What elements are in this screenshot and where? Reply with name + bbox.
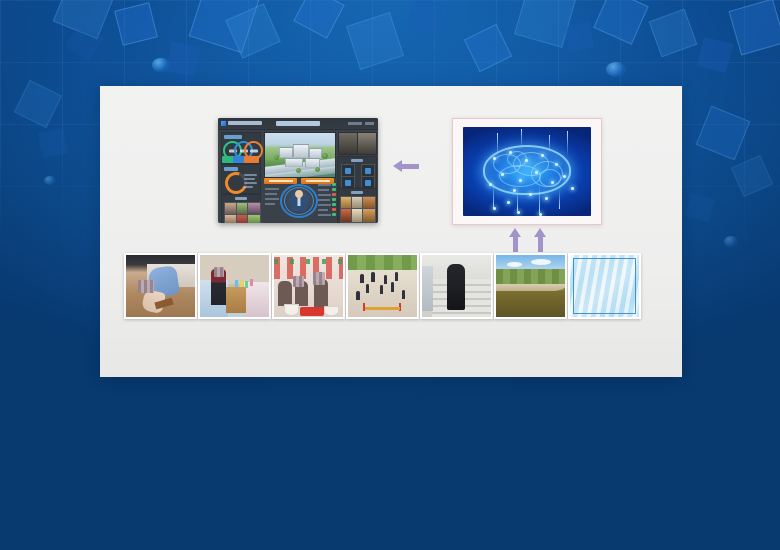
- dashboard-menu-item-1[interactable]: [348, 122, 362, 125]
- portrait-panel-label: [235, 197, 247, 200]
- photo-bedroom-resident[interactable]: [198, 253, 271, 319]
- photo-strip: [124, 253, 664, 321]
- photo-fall-detection[interactable]: [124, 253, 197, 319]
- view-tree: [322, 153, 328, 159]
- view-tree: [315, 167, 320, 172]
- up-arrow-icon-2: [534, 228, 546, 252]
- slide-canvas: [0, 0, 780, 550]
- center-list-row: [265, 193, 277, 195]
- left-arrow-icon: [393, 160, 419, 172]
- donut-stat-row-4: [244, 186, 253, 188]
- view-building: [285, 158, 303, 167]
- avatar-head: [295, 190, 303, 198]
- dashboard-brand-text: [228, 121, 262, 125]
- center-list-row: [265, 188, 279, 190]
- dashboard-screenshot[interactable]: [218, 118, 378, 223]
- gauge-tile-3: [244, 156, 259, 163]
- photo-courtyard[interactable]: [346, 253, 419, 319]
- dashboard-header: [218, 118, 378, 130]
- dashboard-menu-item-2[interactable]: [365, 122, 374, 125]
- view-building: [293, 144, 309, 158]
- donut-stat-row-3: [244, 182, 257, 184]
- privacy-blur: [313, 272, 325, 284]
- dashboard-camera-feed-1[interactable]: [338, 132, 358, 155]
- dashboard-portrait-panel: [221, 194, 261, 223]
- donut-panel-label: [224, 167, 238, 171]
- content-card: [100, 86, 682, 377]
- up-arrow-icon-1: [509, 228, 521, 252]
- dashboard-thumb-grid-panel: [337, 188, 377, 223]
- photo-activity-room[interactable]: [272, 253, 345, 319]
- privacy-blur: [138, 280, 153, 294]
- view-tree: [274, 155, 279, 160]
- avatar-shirt: [298, 197, 301, 206]
- portrait-thumb[interactable]: [247, 214, 261, 223]
- privacy-blur: [214, 267, 224, 277]
- ai-brain-panel[interactable]: [452, 118, 602, 225]
- photo-park-lake[interactable]: [494, 253, 567, 319]
- dashboard-gauges-panel: [221, 132, 261, 164]
- dashboard-main-3d-view[interactable]: [264, 132, 336, 178]
- icon-grid-label: [351, 159, 363, 162]
- donut-stat-row-1: [244, 174, 257, 176]
- dashboard-icon-grid-panel: [337, 156, 377, 188]
- item-thumb[interactable]: [362, 208, 376, 223]
- ai-brain-image: [463, 127, 591, 216]
- privacy-blur: [293, 276, 304, 287]
- center-list-row: [265, 198, 279, 200]
- view-tree: [296, 168, 301, 173]
- donut-stat-row-2: [244, 178, 255, 180]
- view-building: [279, 147, 293, 158]
- photo-staircase[interactable]: [420, 253, 493, 319]
- dashboard-title-text: [276, 121, 320, 126]
- dashboard-camera-feed-2[interactable]: [357, 132, 377, 155]
- gauges-panel-label: [224, 135, 242, 139]
- dashboard-donut-panel: [221, 164, 261, 194]
- thumb-grid-label: [351, 191, 363, 194]
- photo-abstract-blue[interactable]: [568, 253, 641, 319]
- dashboard-logo-icon: [221, 121, 226, 126]
- dashboard-person-avatar[interactable]: [280, 184, 318, 218]
- center-list-row: [265, 203, 275, 205]
